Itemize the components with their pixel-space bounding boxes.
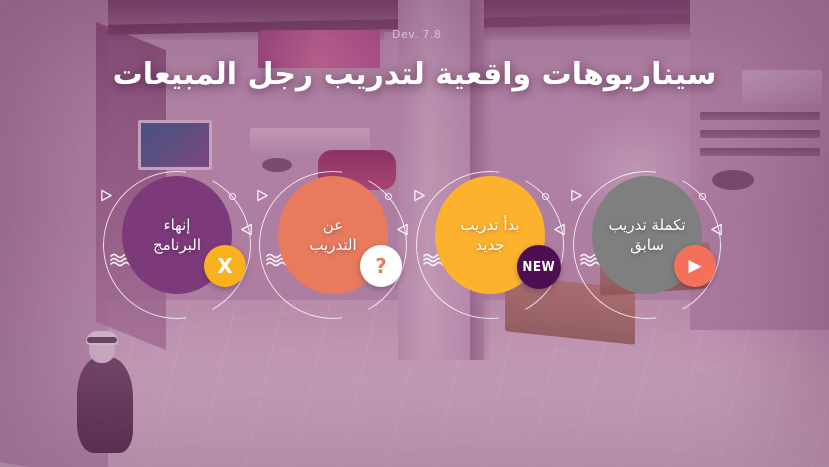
play-icon[interactable]: ▶ bbox=[674, 245, 716, 287]
main-menu: إنهاءالبرنامجXعنالتدريب?بدأ تدريبجديدNEW… bbox=[0, 160, 829, 330]
help-icon[interactable]: ? bbox=[360, 245, 402, 287]
app-screen: Dev. 7.8 سيناريوهات واقعية لتدريب رجل ال… bbox=[0, 0, 829, 467]
circle-outline-icon bbox=[542, 193, 549, 200]
triangle-right-icon bbox=[570, 188, 583, 203]
new-badge-icon[interactable]: NEW bbox=[517, 245, 561, 289]
menu-item-resume-previous-training[interactable]: تكملة تدريبسابق▶ bbox=[562, 160, 732, 330]
dev-version-tag: Dev. 7.8 bbox=[392, 28, 441, 41]
triangle-right-icon bbox=[413, 188, 426, 203]
triangle-right-icon bbox=[100, 188, 113, 203]
circle-outline-icon bbox=[385, 193, 392, 200]
menu-item-start-new-training[interactable]: بدأ تدريبجديدNEW bbox=[405, 160, 575, 330]
page-title: سيناريوهات واقعية لتدريب رجل المبيعات bbox=[0, 56, 829, 94]
menu-item-label: عنالتدريب bbox=[303, 215, 362, 256]
menu-item-label: إنهاءالبرنامج bbox=[147, 215, 207, 256]
menu-item-badge-glyph: ? bbox=[375, 254, 387, 278]
menu-item-badge-glyph: NEW bbox=[523, 260, 556, 275]
close-icon[interactable]: X bbox=[204, 245, 246, 287]
triangle-left-icon bbox=[710, 222, 723, 237]
menu-item-label: بدأ تدريبجديد bbox=[454, 215, 525, 256]
menu-item-end-program[interactable]: إنهاءالبرنامجX bbox=[92, 160, 262, 330]
circle-outline-icon bbox=[699, 193, 706, 200]
menu-item-badge-glyph: X bbox=[217, 254, 232, 278]
menu-item-label: تكملة تدريبسابق bbox=[602, 215, 691, 256]
circle-outline-icon bbox=[229, 193, 236, 200]
triangle-right-icon bbox=[256, 188, 269, 203]
menu-item-badge-glyph: ▶ bbox=[688, 256, 701, 276]
menu-item-about-training[interactable]: عنالتدريب? bbox=[248, 160, 418, 330]
